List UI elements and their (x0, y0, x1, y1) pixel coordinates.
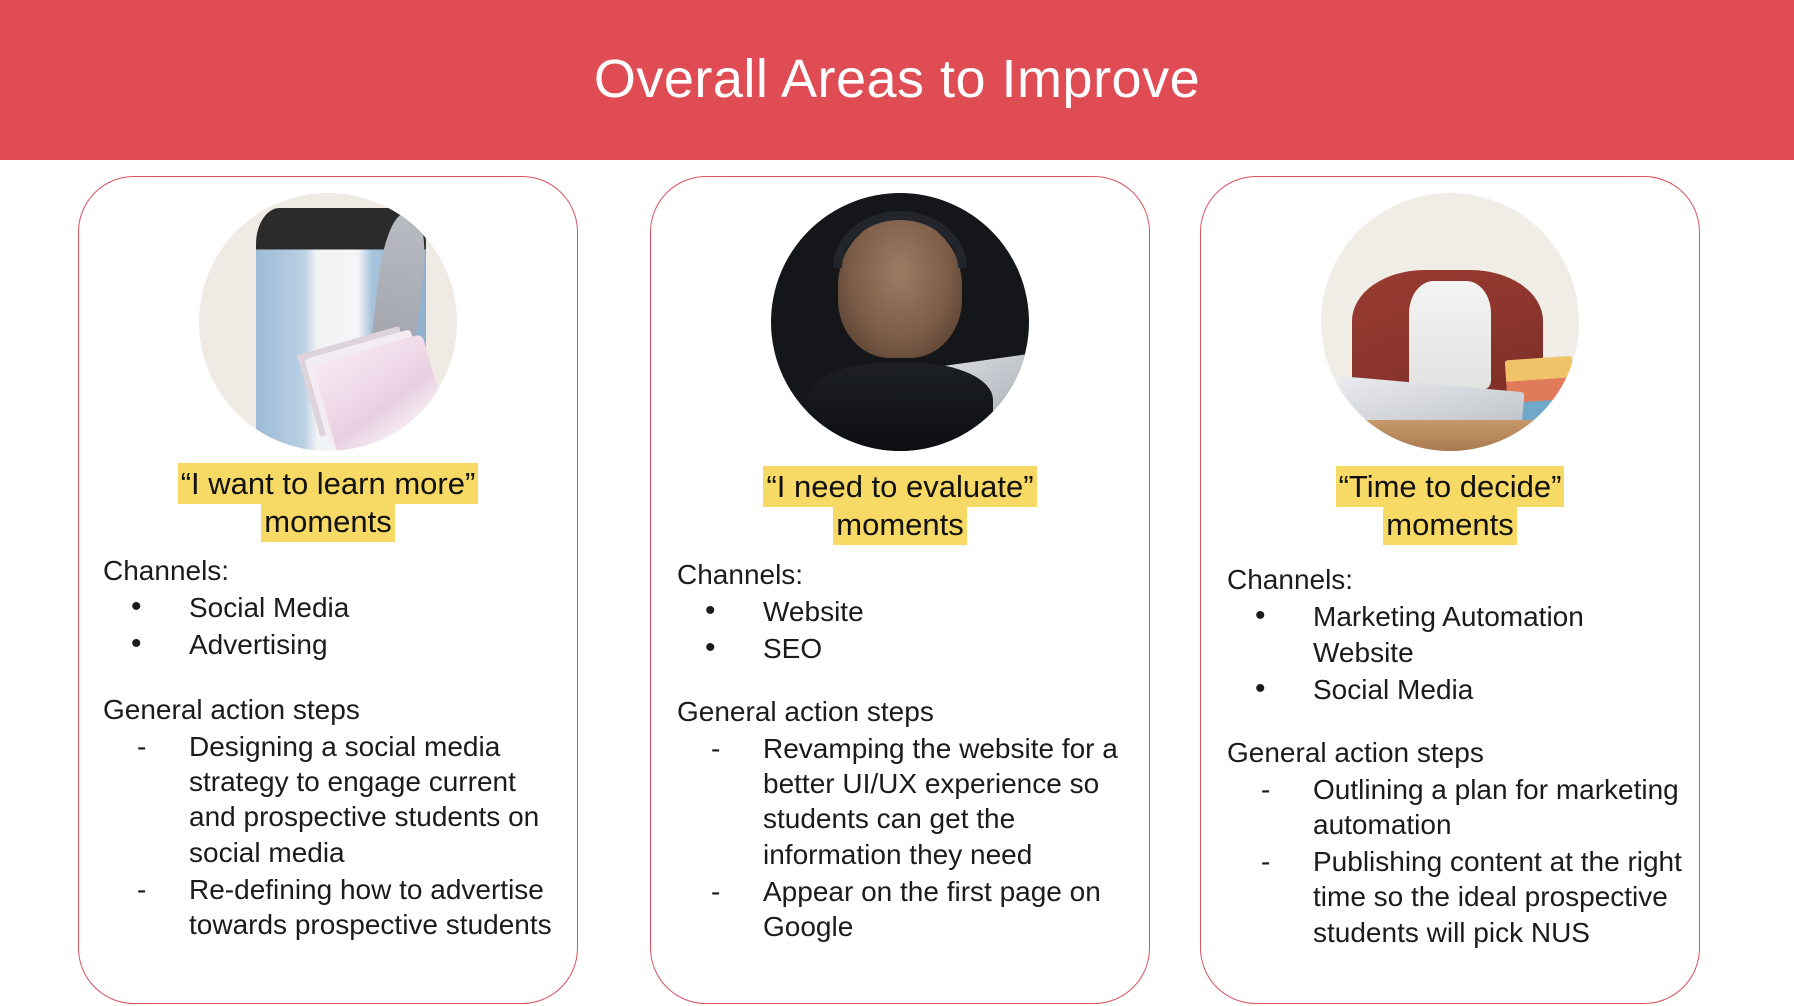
card-headline: “I want to learn more” moments (79, 465, 577, 541)
list-item: Publishing content at the right time so … (1227, 844, 1689, 949)
list-item: Re-defining how to advertise towards pro… (103, 872, 561, 942)
channels-list: Social Media Advertising (103, 590, 561, 663)
list-item: Appear on the first page on Google (677, 874, 1135, 944)
list-item: Social Media (103, 590, 561, 626)
man-with-headphones-laptop-photo (771, 193, 1029, 451)
card-headline-line1: “I need to evaluate” (763, 466, 1036, 507)
page-title: Overall Areas to Improve (594, 50, 1200, 109)
list-item: Social Media (1227, 672, 1689, 708)
channels-list: Website SEO (677, 594, 1135, 667)
card-headline-line2: moments (1383, 504, 1516, 545)
channels-label: Channels: (103, 553, 561, 588)
channels-label: Channels: (1227, 562, 1689, 597)
moment-card-decide[interactable]: “Time to decide” moments Channels: Marke… (1200, 176, 1700, 1004)
card-headline-line1: “Time to decide” (1336, 466, 1565, 507)
card-body: Channels: Marketing Automation Website S… (1227, 562, 1689, 952)
spacer (1227, 709, 1689, 735)
card-headline-line1: “I want to learn more” (178, 463, 479, 504)
student-with-books-photo (199, 193, 457, 451)
steps-list: Outlining a plan for marketing automatio… (1227, 772, 1689, 950)
card-headline: “I need to evaluate” moments (651, 468, 1149, 544)
list-item: Outlining a plan for marketing automatio… (1227, 772, 1689, 842)
list-item: Designing a social media strategy to eng… (103, 729, 561, 870)
channels-label: Channels: (677, 557, 1135, 592)
card-body: Channels: Social Media Advertising Gener… (103, 553, 561, 944)
list-item: Website (677, 594, 1135, 630)
steps-label: General action steps (103, 692, 561, 727)
moment-card-evaluate[interactable]: “I need to evaluate” moments Channels: W… (650, 176, 1150, 1004)
cards-row: “I want to learn more” moments Channels:… (0, 160, 1794, 1006)
spacer (103, 664, 561, 692)
steps-list: Designing a social media strategy to eng… (103, 729, 561, 942)
moment-card-learn-more[interactable]: “I want to learn more” moments Channels:… (78, 176, 578, 1004)
list-item: Advertising (103, 627, 561, 663)
channels-list: Marketing Automation Website Social Medi… (1227, 599, 1689, 707)
card-headline-line2: moments (833, 504, 966, 545)
woman-with-glasses-laptop-photo (1321, 193, 1579, 451)
list-item: SEO (677, 631, 1135, 667)
card-body: Channels: Website SEO General action ste… (677, 557, 1135, 946)
steps-list: Revamping the website for a better UI/UX… (677, 731, 1135, 944)
slide-header-banner: Overall Areas to Improve (0, 0, 1794, 160)
list-item: Marketing Automation Website (1227, 599, 1689, 671)
spacer (677, 668, 1135, 694)
card-headline: “Time to decide” moments (1201, 468, 1699, 544)
list-item: Revamping the website for a better UI/UX… (677, 731, 1135, 872)
steps-label: General action steps (1227, 735, 1689, 770)
steps-label: General action steps (677, 694, 1135, 729)
slide: Overall Areas to Improve “I want to lear… (0, 0, 1794, 1006)
card-headline-line2: moments (261, 501, 394, 542)
